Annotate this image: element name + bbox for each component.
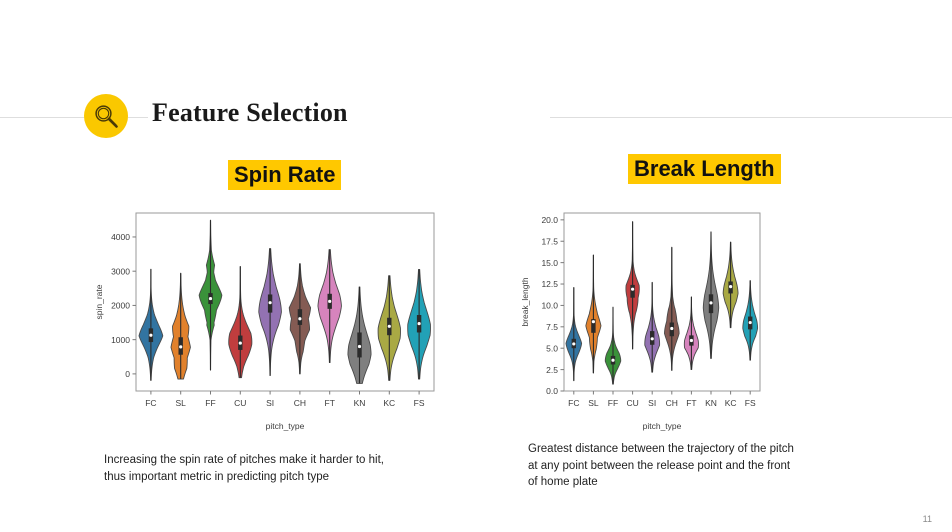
- svg-text:12.5: 12.5: [541, 279, 558, 289]
- svg-text:FC: FC: [568, 398, 579, 408]
- svg-text:0: 0: [125, 369, 130, 379]
- svg-text:3000: 3000: [111, 266, 130, 276]
- svg-text:1000: 1000: [111, 335, 130, 345]
- svg-text:17.5: 17.5: [541, 236, 558, 246]
- caption-break-length: Greatest distance between the trajectory…: [528, 441, 888, 491]
- svg-text:SI: SI: [266, 398, 274, 408]
- page-number: 11: [923, 514, 932, 524]
- svg-text:FF: FF: [608, 398, 618, 408]
- page-title: Feature Selection: [152, 98, 348, 128]
- section-heading-spin-rate: Spin Rate: [228, 160, 341, 190]
- svg-text:20.0: 20.0: [541, 215, 558, 225]
- header-rule-right: [550, 117, 952, 118]
- svg-text:0.0: 0.0: [546, 386, 558, 396]
- spin-rate-violin-svg: 01000200030004000spin_rateFCSLFFCUSICHFT…: [88, 205, 446, 435]
- svg-text:KC: KC: [383, 398, 395, 408]
- svg-text:2.5: 2.5: [546, 365, 558, 375]
- svg-text:SL: SL: [588, 398, 599, 408]
- svg-text:FS: FS: [414, 398, 425, 408]
- svg-text:CU: CU: [626, 398, 638, 408]
- header-rule-left: [0, 117, 86, 118]
- svg-text:FF: FF: [205, 398, 215, 408]
- svg-text:KC: KC: [725, 398, 737, 408]
- break-length-violin-svg: 0.02.55.07.510.012.515.017.520.0break_le…: [512, 205, 870, 435]
- svg-text:pitch_type: pitch_type: [266, 421, 305, 431]
- svg-text:SL: SL: [175, 398, 186, 408]
- svg-text:CH: CH: [294, 398, 306, 408]
- break-length-violin-chart: 0.02.55.07.510.012.515.017.520.0break_le…: [512, 205, 870, 435]
- svg-text:2000: 2000: [111, 301, 130, 311]
- svg-text:KN: KN: [705, 398, 717, 408]
- svg-text:5.0: 5.0: [546, 343, 558, 353]
- svg-text:CU: CU: [234, 398, 246, 408]
- spin-rate-violin-chart: 01000200030004000spin_rateFCSLFFCUSICHFT…: [88, 205, 446, 435]
- svg-text:10.0: 10.0: [541, 301, 558, 311]
- svg-text:SI: SI: [648, 398, 656, 408]
- svg-text:FT: FT: [686, 398, 696, 408]
- svg-text:FC: FC: [145, 398, 156, 408]
- magnifier-icon: [84, 94, 128, 138]
- svg-text:break_length: break_length: [520, 277, 530, 326]
- svg-text:pitch_type: pitch_type: [643, 421, 682, 431]
- header-rule-mid: [128, 117, 148, 118]
- svg-text:spin_rate: spin_rate: [94, 284, 104, 319]
- svg-text:FS: FS: [745, 398, 756, 408]
- svg-text:FT: FT: [325, 398, 335, 408]
- caption-spin-rate: Increasing the spin rate of pitches make…: [104, 452, 484, 485]
- svg-text:15.0: 15.0: [541, 258, 558, 268]
- svg-text:KN: KN: [354, 398, 366, 408]
- svg-text:4000: 4000: [111, 232, 130, 242]
- section-heading-break-length: Break Length: [628, 154, 781, 184]
- svg-text:CH: CH: [666, 398, 678, 408]
- svg-text:7.5: 7.5: [546, 322, 558, 332]
- slide: Feature Selection Spin Rate Break Length…: [0, 0, 952, 532]
